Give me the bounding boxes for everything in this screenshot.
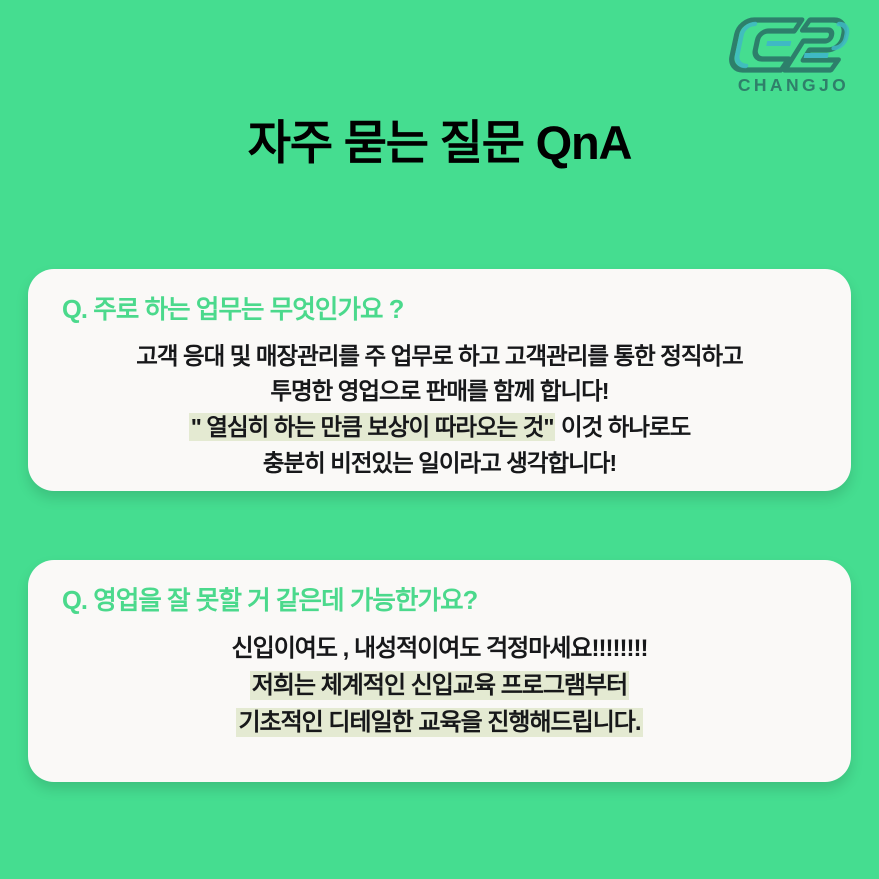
answer-text: 고객 응대 및 매장관리를 주 업무로 하고 고객관리를 통한 정직하고 (136, 343, 743, 369)
answer-line: 투명한 영업으로 판매를 함께 합니다! (62, 374, 817, 410)
brand-wordmark: CHANGJO (735, 77, 849, 95)
answer-text: 신입이여도 , 내성적이여도 걱정마세요!!!!!!!! (232, 635, 648, 662)
faq-question-1: Q. 주로 하는 업무는 무엇인가요 ? (62, 295, 817, 326)
answer-text: 충분히 비전있는 일이라고 생각합니다! (263, 450, 616, 476)
faq-question-2: Q. 영업을 잘 못할 거 같은데 가능한가요? (62, 586, 817, 617)
faq-card-2: Q. 영업을 잘 못할 거 같은데 가능한가요? 신입이여도 , 내성적이여도 … (28, 560, 851, 782)
faq-answer-1: 고객 응대 및 매장관리를 주 업무로 하고 고객관리를 통한 정직하고투명한 … (62, 339, 817, 482)
highlighted-text: 저희는 체계적인 신입교육 프로그램부터 (250, 671, 629, 700)
answer-line: 신입이여도 , 내성적이여도 걱정마세요!!!!!!!! (62, 630, 817, 667)
brand-logo: CHANGJO (727, 14, 857, 102)
faq-card-1: Q. 주로 하는 업무는 무엇인가요 ? 고객 응대 및 매장관리를 주 업무로… (28, 269, 851, 491)
highlighted-text: 기초적인 디테일한 교육을 진행해드립니다. (236, 708, 642, 737)
answer-line: 충분히 비전있는 일이라고 생각합니다! (62, 446, 817, 482)
highlighted-text: " 열심히 하는 만큼 보상이 따라오는 것" (189, 413, 556, 441)
faq-answer-2: 신입이여도 , 내성적이여도 걱정마세요!!!!!!!!저희는 체계적인 신입교… (62, 630, 817, 742)
changjo-c2-logo-icon (729, 14, 855, 76)
answer-line: 고객 응대 및 매장관리를 주 업무로 하고 고객관리를 통한 정직하고 (62, 339, 817, 375)
answer-text: 이것 하나로도 (555, 414, 690, 440)
answer-line: " 열심히 하는 만큼 보상이 따라오는 것" 이것 하나로도 (62, 410, 817, 446)
answer-line: 기초적인 디테일한 교육을 진행해드립니다. (62, 704, 817, 741)
page-title: 자주 묻는 질문 QnA (0, 117, 879, 169)
answer-line: 저희는 체계적인 신입교육 프로그램부터 (62, 667, 817, 704)
answer-text: 투명한 영업으로 판매를 함께 합니다! (270, 378, 608, 404)
